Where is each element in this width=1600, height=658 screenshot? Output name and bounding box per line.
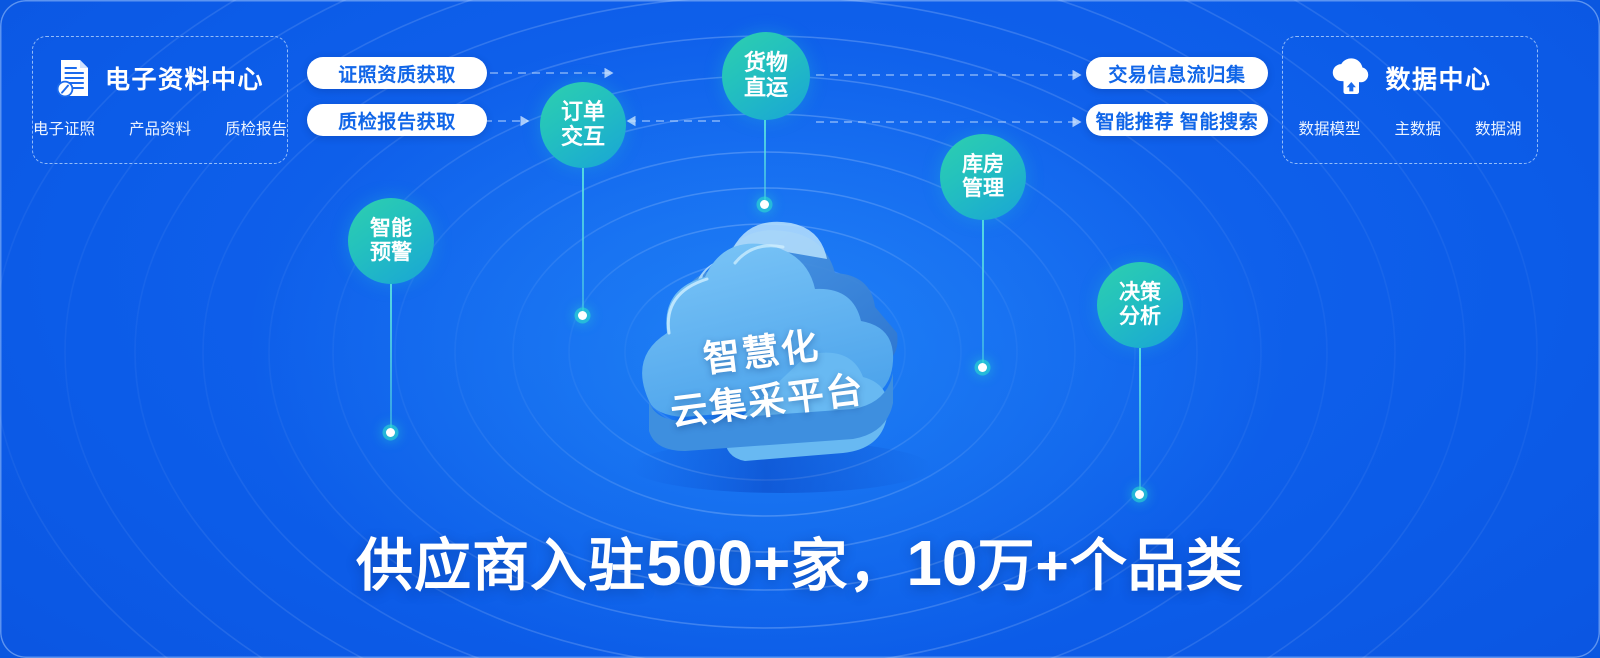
panel-left-subitems: 电子证照 产品资料 质检报告	[33, 117, 287, 139]
pill-certificate-qualification[interactable]: 证照资质获取	[307, 57, 487, 89]
panel-right-item-0[interactable]: 数据模型	[1281, 117, 1377, 139]
node-warning-line2: 预警	[370, 241, 412, 265]
headline-statistics: 供应商入驻500+家，10万+个品类	[0, 520, 1600, 602]
headline-mid: 家，	[790, 534, 906, 598]
panel-electronic-data-center: 电子资料中心 电子证照 产品资料 质检报告	[32, 36, 288, 164]
node-decision-analysis[interactable]: 决策 分析	[1097, 262, 1183, 348]
stem-node-warehouse	[982, 218, 984, 370]
dot-node-decision	[1135, 490, 1144, 499]
node-smart-warning[interactable]: 智能 预警	[348, 198, 434, 284]
node-order-line2: 交互	[561, 125, 605, 150]
panel-left-title: 电子资料中心	[105, 60, 264, 96]
stem-node-shipping	[764, 118, 766, 208]
node-decision-line1: 决策	[1119, 281, 1161, 305]
node-shipping-line2: 直运	[744, 76, 788, 101]
node-order-line1: 订单	[561, 100, 605, 125]
dot-node-shipping	[760, 200, 769, 209]
panel-right-title: 数据中心	[1385, 60, 1491, 96]
node-decision-line2: 分析	[1119, 305, 1161, 329]
panel-left-header: 电子资料中心	[33, 58, 287, 98]
headline-prefix: 供应商入驻	[356, 534, 646, 598]
pill-quality-report[interactable]: 质检报告获取	[307, 104, 487, 136]
panel-left-item-0[interactable]: 电子证照	[16, 117, 112, 139]
headline-unit: 万+	[978, 534, 1070, 598]
central-cloud-platform-graphic: 智慧化 云集采平台	[585, 205, 955, 505]
panel-data-center: 数据中心 数据模型 主数据 数据湖	[1282, 36, 1538, 164]
panel-left-item-2[interactable]: 质检报告	[208, 117, 304, 139]
headline-number-suppliers: 500+	[646, 527, 790, 599]
stem-node-warning	[390, 284, 392, 432]
node-direct-shipping[interactable]: 货物 直运	[722, 32, 810, 120]
headline-number-categories: 10	[906, 527, 977, 599]
dot-node-warning	[386, 428, 395, 437]
stem-node-decision	[1139, 348, 1141, 496]
panel-left-item-1[interactable]: 产品资料	[112, 117, 208, 139]
document-certificate-icon	[56, 58, 92, 98]
node-shipping-line1: 货物	[744, 51, 788, 76]
panel-right-header: 数据中心	[1283, 58, 1537, 98]
dot-node-warehouse	[978, 363, 987, 372]
panel-right-subitems: 数据模型 主数据 数据湖	[1283, 117, 1537, 139]
panel-right-item-1[interactable]: 主数据	[1378, 117, 1459, 139]
node-warehouse-line1: 库房	[962, 153, 1004, 177]
node-warehouse-management[interactable]: 库房 管理	[940, 134, 1026, 220]
node-order-interaction[interactable]: 订单 交互	[540, 82, 626, 168]
headline-suffix: 个品类	[1070, 534, 1244, 598]
stem-node-order	[582, 166, 584, 318]
cloud-upload-icon	[1328, 58, 1372, 98]
node-warning-line1: 智能	[370, 217, 412, 241]
panel-right-item-2[interactable]: 数据湖	[1458, 117, 1539, 139]
pill-smart-recommend-search[interactable]: 智能推荐 智能搜索	[1086, 104, 1268, 136]
pill-transaction-info-flow[interactable]: 交易信息流归集	[1086, 57, 1268, 89]
infographic-banner: 电子资料中心 电子证照 产品资料 质检报告 数据中心 数据模型 主数据 数据湖	[0, 0, 1600, 658]
node-warehouse-line2: 管理	[962, 177, 1004, 201]
cloud-label-line2: 云集采平台	[668, 366, 867, 438]
cloud-platform-label: 智慧化 云集采平台	[563, 206, 967, 549]
dot-node-order	[578, 311, 587, 320]
